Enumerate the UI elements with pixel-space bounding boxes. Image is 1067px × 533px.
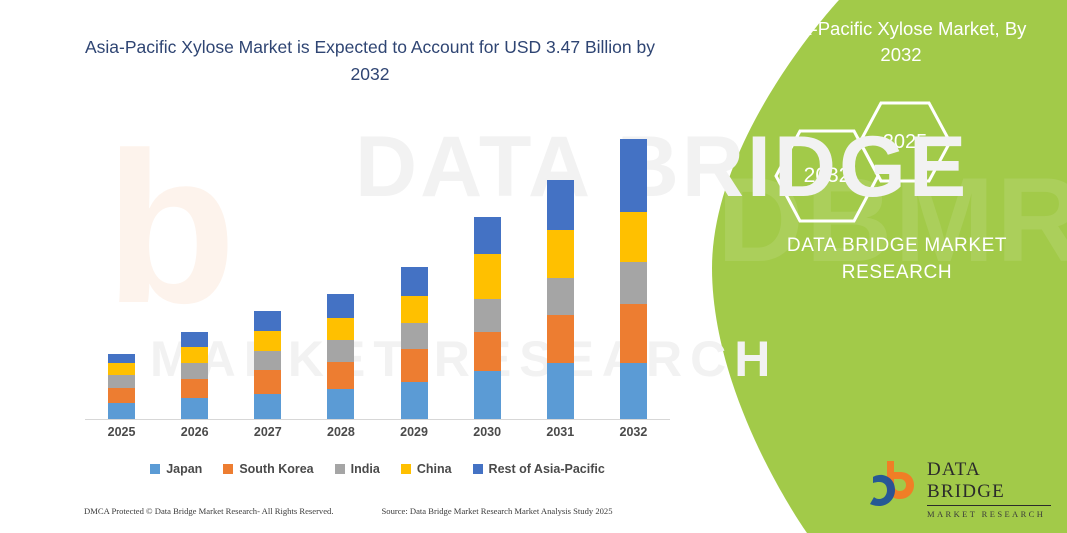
bar-segment-japan-2027 [254, 394, 281, 419]
bar-segment-india-2025 [108, 375, 135, 388]
bar-segment-japan-2032 [620, 363, 647, 419]
logo-mark-icon [869, 457, 925, 511]
bar-segment-china-2031 [547, 230, 574, 278]
logo-title: DATA BRIDGE [927, 459, 1051, 506]
bar-segment-china-2030 [474, 254, 501, 299]
bar-segment-china-2029 [401, 296, 428, 323]
infographic-root: DBMR Asia-Pacific Xylose Market, By 2032… [0, 0, 1067, 533]
panel-title: Asia-Pacific Xylose Market, By 2032 [707, 16, 1067, 68]
bar-segment-rest-of-asia-pacific-2027 [254, 311, 281, 331]
bar-segment-india-2028 [327, 340, 354, 362]
legend-item-china[interactable]: China [401, 462, 452, 476]
bar-2030 [474, 217, 501, 419]
bar-2027 [254, 311, 281, 419]
bar-segment-rest-of-asia-pacific-2028 [327, 294, 354, 318]
bar-segment-south-korea-2026 [181, 379, 208, 398]
bar-segment-japan-2025 [108, 403, 135, 419]
x-axis-label-2031: 2031 [530, 425, 590, 439]
legend-item-south-korea[interactable]: South Korea [223, 462, 313, 476]
bar-2028 [327, 294, 354, 419]
bar-segment-rest-of-asia-pacific-2025 [108, 354, 135, 363]
stacked-bar-plot [85, 110, 670, 420]
x-axis-label-2029: 2029 [384, 425, 444, 439]
legend-swatch-icon [150, 464, 160, 474]
bar-segment-japan-2029 [401, 382, 428, 419]
bar-segment-south-korea-2025 [108, 388, 135, 403]
legend-item-rest-of-asia-pacific[interactable]: Rest of Asia-Pacific [473, 462, 605, 476]
panel-brand-text: DATA BRIDGE MARKET RESEARCH [707, 232, 1067, 286]
bar-segment-south-korea-2028 [327, 362, 354, 389]
x-axis-label-2027: 2027 [238, 425, 298, 439]
chart-legend: JapanSouth KoreaIndiaChinaRest of Asia-P… [85, 462, 670, 476]
legend-label: China [417, 462, 452, 476]
bar-segment-india-2027 [254, 351, 281, 370]
legend-label: Rest of Asia-Pacific [489, 462, 605, 476]
bar-segment-rest-of-asia-pacific-2032 [620, 139, 647, 212]
legend-label: South Korea [239, 462, 313, 476]
footer-source: Source: Data Bridge Market Research Mark… [382, 506, 613, 516]
footer-copyright: DMCA Protected © Data Bridge Market Rese… [84, 506, 334, 516]
bar-segment-south-korea-2032 [620, 304, 647, 363]
bar-segment-south-korea-2030 [474, 332, 501, 371]
bar-segment-india-2030 [474, 299, 501, 332]
x-axis-labels: 20252026202720282029203020312032 [85, 425, 670, 447]
bar-segment-south-korea-2029 [401, 349, 428, 382]
legend-swatch-icon [473, 464, 483, 474]
green-side-panel: DBMR Asia-Pacific Xylose Market, By 2032… [707, 0, 1067, 533]
chart-area: b DATA BRIDGE MARKET RESEARCH Asia-Pacif… [0, 0, 760, 533]
bar-segment-india-2026 [181, 363, 208, 379]
bar-segment-india-2029 [401, 323, 428, 349]
x-axis-label-2025: 2025 [92, 425, 152, 439]
bar-2029 [401, 267, 428, 419]
bar-segment-rest-of-asia-pacific-2030 [474, 217, 501, 254]
data-bridge-logo: DATA BRIDGE MARKET RESEARCH [869, 455, 1051, 513]
legend-item-india[interactable]: India [335, 462, 380, 476]
x-axis-line [85, 419, 670, 420]
bar-segment-japan-2028 [327, 389, 354, 419]
bar-segment-rest-of-asia-pacific-2026 [181, 332, 208, 347]
x-axis-label-2028: 2028 [311, 425, 371, 439]
bar-segment-south-korea-2031 [547, 315, 574, 363]
bar-segment-india-2032 [620, 262, 647, 304]
bar-segment-china-2025 [108, 363, 135, 375]
bar-2031 [547, 180, 574, 419]
legend-swatch-icon [335, 464, 345, 474]
x-axis-label-2026: 2026 [165, 425, 225, 439]
bar-segment-china-2026 [181, 347, 208, 363]
logo-text: DATA BRIDGE MARKET RESEARCH [927, 459, 1051, 519]
bar-2026 [181, 332, 208, 419]
bar-segment-china-2032 [620, 212, 647, 262]
bar-segment-japan-2030 [474, 371, 501, 419]
legend-label: Japan [166, 462, 202, 476]
bar-segment-india-2031 [547, 278, 574, 315]
bar-2025 [108, 354, 135, 419]
bar-segment-china-2027 [254, 331, 281, 351]
bar-segment-japan-2031 [547, 363, 574, 419]
footer: DMCA Protected © Data Bridge Market Rese… [84, 506, 684, 516]
bar-segment-rest-of-asia-pacific-2031 [547, 180, 574, 230]
logo-subtitle: MARKET RESEARCH [927, 509, 1051, 519]
legend-item-japan[interactable]: Japan [150, 462, 202, 476]
bar-2032 [620, 139, 647, 419]
bar-segment-rest-of-asia-pacific-2029 [401, 267, 428, 296]
bar-segment-south-korea-2027 [254, 370, 281, 394]
page-title: Asia-Pacific Xylose Market is Expected t… [70, 34, 670, 88]
bar-segment-china-2028 [327, 318, 354, 340]
legend-label: India [351, 462, 380, 476]
legend-swatch-icon [401, 464, 411, 474]
x-axis-label-2030: 2030 [457, 425, 517, 439]
legend-swatch-icon [223, 464, 233, 474]
x-axis-label-2032: 2032 [603, 425, 663, 439]
bar-segment-japan-2026 [181, 398, 208, 419]
